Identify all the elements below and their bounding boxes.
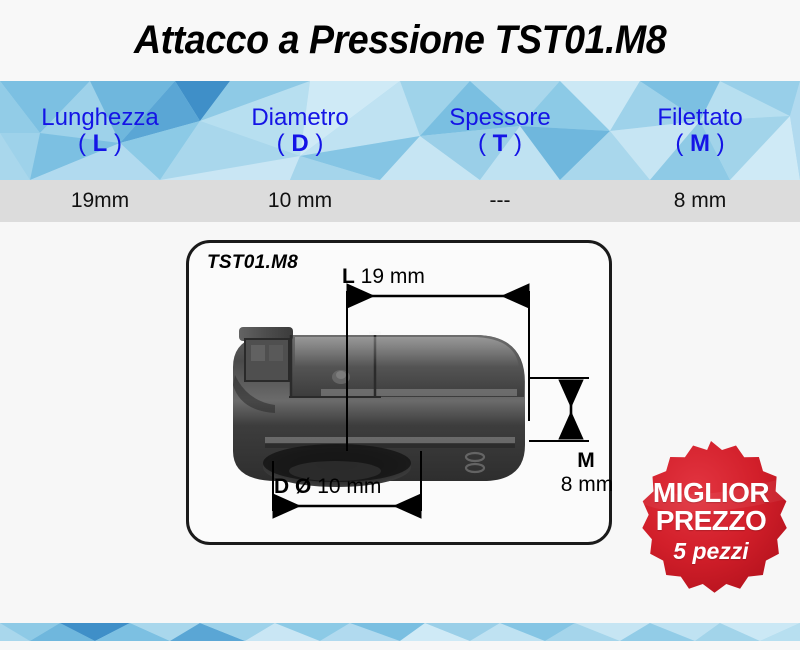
push-fit-connector-icon [225, 305, 545, 505]
dimension-label-thread-symbol: M [551, 449, 621, 472]
spec-header-symbol-2: ( T ) [478, 131, 522, 156]
spec-value-spessore: --- [400, 189, 600, 213]
product-diagram-panel: TST01.M8 [186, 240, 612, 545]
page-title: Attacco a Pressione TST01.M8 [134, 18, 666, 63]
spec-header-symbol-0: ( L ) [78, 131, 122, 156]
dimension-label-diameter: D Ø 10 mm [274, 475, 381, 498]
spec-header-col-filettato: Filettato ( M ) [600, 81, 800, 180]
spec-value-diametro: 10 mm [200, 189, 400, 213]
spec-header-symbol-3: ( M ) [675, 131, 724, 156]
best-price-badge: MIGLIOR PREZZO 5 pezzi [627, 437, 795, 605]
spec-value-filettato: 8 mm [600, 189, 800, 213]
diagram-code-label: TST01.M8 [207, 252, 298, 274]
spec-header-name-3: Filettato [657, 105, 742, 130]
dimension-label-thread-value: 8 mm [547, 473, 627, 496]
spec-value-lunghezza: 19mm [0, 189, 200, 213]
product-photo [225, 305, 545, 505]
spec-header-symbol-1: ( D ) [277, 131, 324, 156]
dimension-label-length: L 19 mm [342, 265, 425, 288]
mosaic-pattern-footer-icon [0, 623, 800, 641]
spec-table-header-band: Lunghezza ( L ) Diametro ( D ) Spessore … [0, 81, 800, 180]
spec-header-name-0: Lunghezza [41, 105, 158, 130]
starburst-seal-icon [627, 437, 795, 605]
spec-values-row: 19mm 10 mm --- 8 mm [0, 180, 800, 222]
spec-header-columns: Lunghezza ( L ) Diametro ( D ) Spessore … [0, 81, 800, 180]
spec-header-name-2: Spessore [449, 105, 550, 130]
spec-header-col-spessore: Spessore ( T ) [400, 81, 600, 180]
spec-header-col-diametro: Diametro ( D ) [200, 81, 400, 180]
title-bar: Attacco a Pressione TST01.M8 [0, 0, 800, 81]
footer-band [0, 623, 800, 641]
spec-header-name-1: Diametro [251, 105, 348, 130]
spec-header-col-lunghezza: Lunghezza ( L ) [0, 81, 200, 180]
